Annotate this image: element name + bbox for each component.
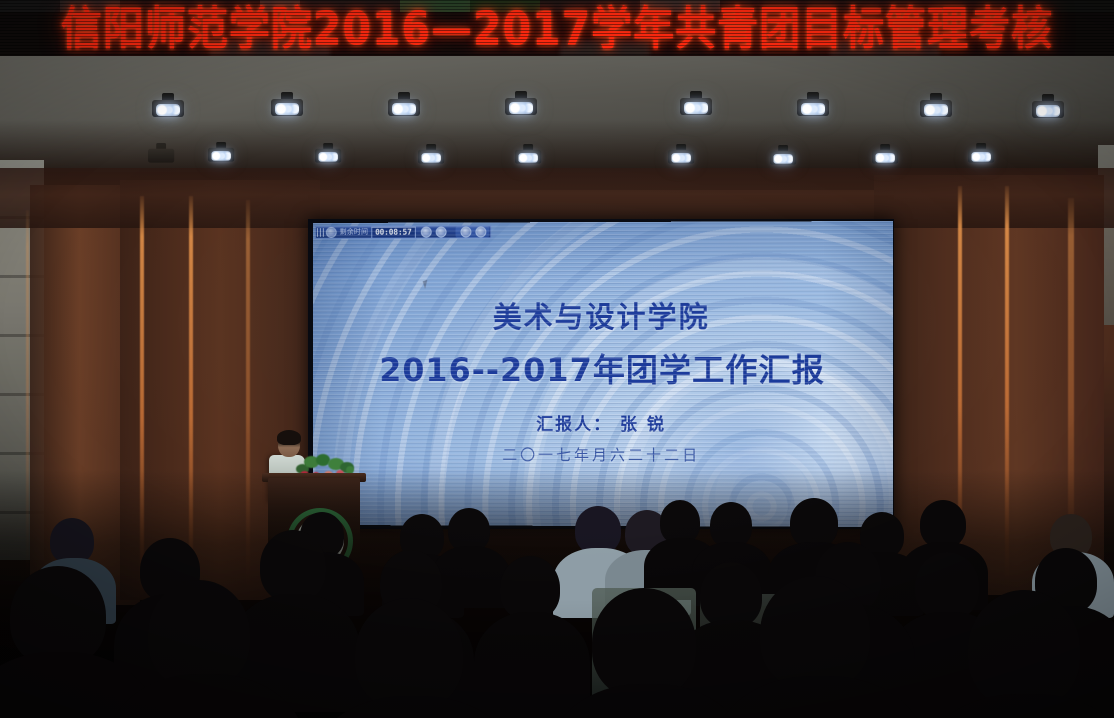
- slide-presenter: 汇报人： 张 锐: [313, 410, 893, 436]
- mouse-cursor-icon: [423, 280, 430, 289]
- led-banner: 信阳师范学院2016—2017学年共青团目标管理考核: [0, 0, 1114, 56]
- photo-canvas: 信阳师范学院2016—2017学年共青团目标管理考核 剩余时间 00:08:57: [0, 0, 1114, 718]
- slide-title-line1: 美术与设计学院: [313, 293, 893, 336]
- audience: [0, 470, 1114, 718]
- led-banner-text: 信阳师范学院2016—2017学年共青团目标管理考核: [0, 2, 1114, 56]
- presenter-hair: [277, 430, 301, 445]
- slide-date: 二〇一七年月六二十二日: [313, 444, 893, 466]
- slide-title-line2: 2016--2017年团学工作汇报: [313, 345, 893, 391]
